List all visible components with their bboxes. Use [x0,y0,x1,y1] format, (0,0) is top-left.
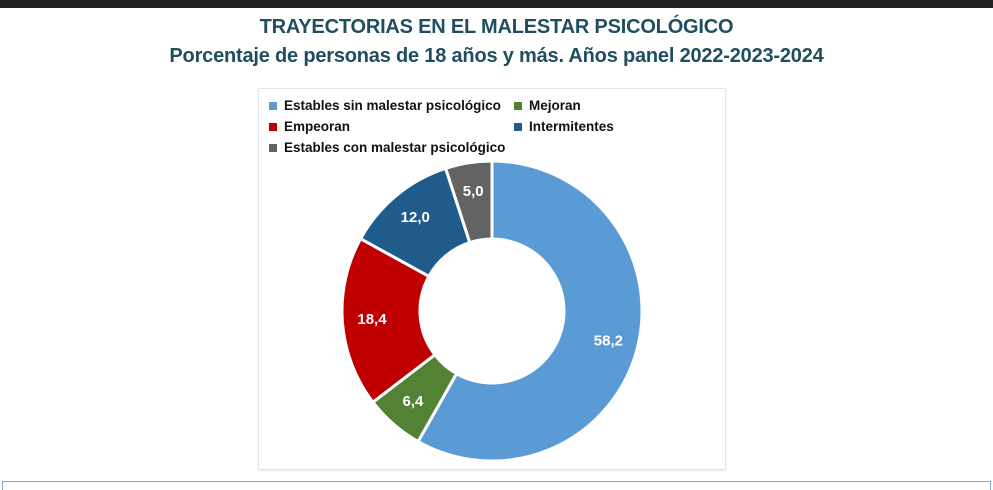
donut-slice-label: 58,2 [594,333,623,350]
donut-slice-label: 18,4 [357,311,387,328]
donut-chart-area: 58,26,418,412,05,0 [259,89,725,469]
top-dark-bar [0,0,993,8]
page-title: TRAYECTORIAS EN EL MALESTAR PSICOLÓGICO [0,14,993,40]
donut-slice-label: 6,4 [403,393,425,410]
bottom-text-box [2,481,991,490]
chart-titles: TRAYECTORIAS EN EL MALESTAR PSICOLÓGICO … [0,14,993,70]
page-subtitle: Porcentaje de personas de 18 años y más.… [0,42,993,70]
donut-slice-label: 5,0 [463,183,484,200]
donut-chart-svg: 58,26,418,412,05,0 [322,153,662,469]
donut-slice-label: 12,0 [401,209,430,226]
chart-container[interactable]: Estables sin malestar psicológicoMejoran… [258,88,726,470]
